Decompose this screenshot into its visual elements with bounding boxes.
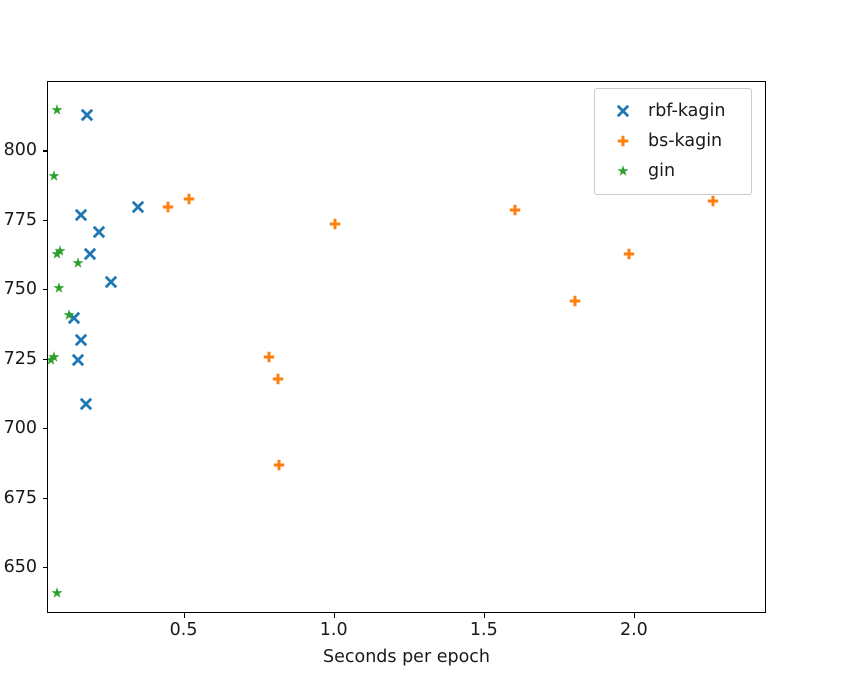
y-tick-mark [43, 220, 48, 221]
data-point-rbf-kagin [86, 404, 87, 405]
y-tick-label: 725 [4, 349, 37, 369]
y-tick-label: 650 [4, 557, 37, 577]
data-point-bs-kagin [515, 210, 516, 211]
data-point-gin [59, 288, 60, 289]
data-point-bs-kagin [168, 207, 169, 208]
data-point-rbf-kagin [87, 115, 88, 116]
y-tick-mark [43, 428, 48, 429]
y-tick-label: 775 [4, 210, 37, 230]
chart-legend: rbf-kaginbs-kagingin [594, 88, 752, 195]
y-tick-mark [43, 498, 48, 499]
data-point-bs-kagin [278, 379, 279, 380]
y-tick-mark [43, 150, 48, 151]
data-point-gin [69, 315, 70, 316]
legend-label: bs-kagin [644, 131, 722, 151]
data-point-bs-kagin [269, 357, 270, 358]
y-tick-label: 675 [4, 488, 37, 508]
scatter-plot-figure: 0.51.01.52.0 650675700725750775800 Secon… [0, 0, 855, 691]
x-axis-label: Seconds per epoch [0, 647, 813, 667]
legend-entry-rbf-kagin: rbf-kagin [595, 96, 751, 126]
y-tick-label: 800 [4, 140, 37, 160]
legend-marker-+-icon [602, 129, 644, 153]
x-tick-label: 2.0 [599, 619, 669, 641]
data-point-rbf-kagin [81, 215, 82, 216]
data-point-rbf-kagin [99, 232, 100, 233]
x-tick-mark [484, 613, 485, 618]
data-point-rbf-kagin [138, 207, 139, 208]
y-tick-mark [43, 289, 48, 290]
x-tick-mark [634, 613, 635, 618]
data-point-gin [57, 110, 58, 111]
data-point-bs-kagin [189, 199, 190, 200]
x-tick-mark [184, 613, 185, 618]
x-tick-label: 1.5 [449, 619, 519, 641]
data-point-bs-kagin [629, 254, 630, 255]
data-point-gin [78, 263, 79, 264]
legend-label: gin [644, 161, 675, 181]
legend-label: rbf-kagin [644, 101, 725, 121]
data-point-gin [54, 357, 55, 358]
x-tick-mark [334, 613, 335, 618]
data-point-bs-kagin [335, 224, 336, 225]
legend-entry-gin: gin [595, 156, 751, 186]
data-point-rbf-kagin [111, 282, 112, 283]
legend-entry-bs-kagin: bs-kagin [595, 126, 751, 156]
legend-marker-*-icon [602, 159, 644, 183]
data-point-bs-kagin [279, 465, 280, 466]
y-tick-label: 750 [4, 279, 37, 299]
data-point-rbf-kagin [81, 340, 82, 341]
y-tick-mark [43, 359, 48, 360]
data-point-bs-kagin [713, 201, 714, 202]
legend-marker-x-icon [602, 99, 644, 123]
data-point-bs-kagin [575, 301, 576, 302]
y-tick-mark [43, 567, 48, 568]
x-tick-label: 1.0 [299, 619, 369, 641]
data-point-rbf-kagin [78, 360, 79, 361]
data-point-gin [60, 251, 61, 252]
x-tick-label: 0.5 [149, 619, 219, 641]
y-tick-label: 700 [4, 418, 37, 438]
data-point-gin [54, 176, 55, 177]
data-point-gin [57, 593, 58, 594]
data-point-rbf-kagin [90, 254, 91, 255]
